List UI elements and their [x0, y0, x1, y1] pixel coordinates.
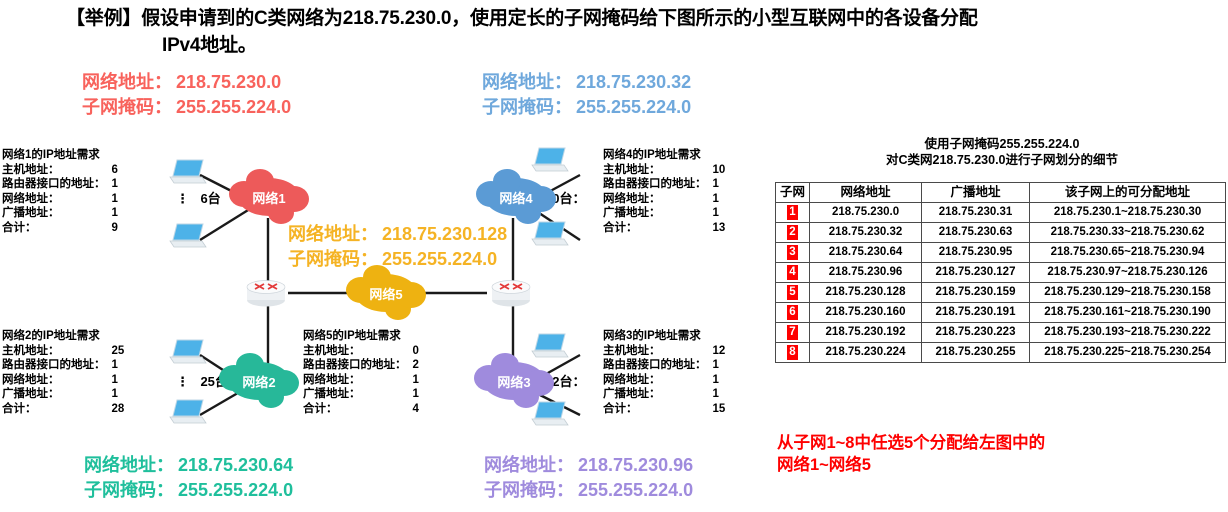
network1-subnet-mask-row: 子网掩码：255.255.224.0 [82, 95, 291, 120]
req-value: 1 [112, 373, 134, 388]
req-key: 合计： [2, 221, 112, 236]
req-key: 合计： [603, 221, 713, 236]
subnet-number-badge: 1 [787, 205, 798, 220]
laptop-icon [168, 398, 206, 424]
cell-broadcast-address: 218.75.230.159 [922, 283, 1030, 303]
subnet-table-caption-line2: 对C类网218.75.230.0进行子网划分的细节 [778, 152, 1226, 168]
cell-usable-range: 218.75.230.97~218.75.230.126 [1030, 263, 1226, 283]
column-header-subnet: 子网 [776, 183, 810, 203]
cell-broadcast-address: 218.75.230.127 [922, 263, 1030, 283]
cell-broadcast-address: 218.75.230.223 [922, 323, 1030, 343]
req-value: 1 [713, 192, 735, 207]
req-value: 28 [112, 402, 134, 417]
req-key: 主机地址： [2, 344, 112, 359]
req-key: 网络地址： [603, 192, 713, 207]
network4-network-address-value: 218.75.230.32 [576, 72, 691, 92]
req-value: 4 [413, 402, 435, 417]
req-key: 主机地址： [303, 344, 413, 359]
table-row: 8 218.75.230.224 218.75.230.255 218.75.2… [776, 343, 1226, 363]
subnet-number-badge: 5 [787, 285, 798, 300]
table-row: 网络地址：1 [2, 192, 134, 207]
req-key: 网络地址： [603, 373, 713, 388]
req-value: 2 [413, 358, 435, 373]
requirements-network3-table: 主机地址：12 路由器接口的地址：1 网络地址：1 广播地址：1 合计：15 [603, 344, 735, 417]
cell-network-address: 218.75.230.128 [810, 283, 922, 303]
req-key: 合计： [2, 402, 112, 417]
host-count-network1-group: ⋮ 6台 [176, 188, 221, 208]
req-key: 路由器接口的地址： [303, 358, 413, 373]
table-row: 路由器接口的地址：1 [2, 177, 134, 192]
req-value: 1 [713, 358, 735, 373]
cell-broadcast-address: 218.75.230.191 [922, 303, 1030, 323]
table-row: 广播地址：1 [603, 206, 735, 221]
table-row: 4 218.75.230.96 218.75.230.127 218.75.23… [776, 263, 1226, 283]
req-value: 1 [713, 387, 735, 402]
cloud-network4: 网络4 [485, 178, 547, 216]
router-icon [489, 278, 531, 306]
network-address-label: 网络地址： [482, 72, 572, 92]
table-row: 路由器接口的地址：1 [603, 177, 735, 192]
req-value: 1 [112, 177, 134, 192]
cell-network-address: 218.75.230.64 [810, 243, 922, 263]
table-header-row: 子网 网络地址 广播地址 该子网上的可分配地址 [776, 183, 1226, 203]
page-title: 【举例】假设申请到的C类网络为218.75.230.0，使用定长的子网掩码给下图… [66, 5, 1216, 59]
cloud-network3-label: 网络3 [497, 372, 530, 391]
cloud-network3: 网络3 [483, 362, 545, 400]
req-key: 主机地址： [603, 163, 713, 178]
req-value: 9 [112, 221, 134, 236]
requirements-network3: 网络3的IP地址需求 主机地址：12 路由器接口的地址：1 网络地址：1 广播地… [603, 329, 735, 417]
cell-network-address: 218.75.230.32 [810, 223, 922, 243]
title-line-2: IPv4地址。 [66, 32, 1216, 59]
req-value: 12 [713, 344, 735, 359]
address-block-network4: 网络地址：218.75.230.32 子网掩码：255.255.224.0 [482, 70, 691, 120]
req-key: 合计： [603, 402, 713, 417]
table-row: 广播地址：1 [303, 387, 435, 402]
column-header-network-address: 网络地址 [810, 183, 922, 203]
network3-subnet-mask-value: 255.255.224.0 [578, 480, 693, 500]
table-row: 路由器接口的地址：1 [2, 358, 134, 373]
table-row: 2 218.75.230.32 218.75.230.63 218.75.230… [776, 223, 1226, 243]
table-row: 网络地址：1 [603, 373, 735, 388]
network1-subnet-mask-value: 255.255.224.0 [176, 97, 291, 117]
requirements-network5-table: 主机地址：0 路由器接口的地址：2 网络地址：1 广播地址：1 合计：4 [303, 344, 435, 417]
subnet-number-badge: 4 [787, 265, 798, 280]
subnet-number-cell-wrapper: 2 [776, 223, 810, 243]
subnet-number-cell-wrapper: 7 [776, 323, 810, 343]
table-row: 合计：9 [2, 221, 134, 236]
subnet-mask-label: 子网掩码： [482, 97, 572, 117]
subnet-mask-label: 子网掩码： [484, 480, 574, 500]
table-row: 网络地址：1 [603, 192, 735, 207]
req-value: 1 [413, 387, 435, 402]
req-key: 网络地址： [303, 373, 413, 388]
subnet-division-table: 子网 网络地址 广播地址 该子网上的可分配地址 1 218.75.230.0 2… [775, 182, 1226, 363]
req-value: 1 [112, 387, 134, 402]
req-key: 路由器接口的地址： [603, 177, 713, 192]
cloud-network5: 网络5 [355, 274, 417, 312]
cloud-network2-label: 网络2 [242, 372, 275, 391]
subnet-number-cell-wrapper: 6 [776, 303, 810, 323]
cell-usable-range: 218.75.230.193~218.75.230.222 [1030, 323, 1226, 343]
req-value: 1 [112, 192, 134, 207]
cell-broadcast-address: 218.75.230.63 [922, 223, 1030, 243]
network1-network-address-value: 218.75.230.0 [176, 72, 281, 92]
title-line-1: 【举例】假设申请到的C类网络为218.75.230.0，使用定长的子网掩码给下图… [66, 8, 978, 29]
table-row: 广播地址：1 [2, 206, 134, 221]
laptop-icon [168, 158, 206, 184]
network2-subnet-mask-value: 255.255.224.0 [178, 480, 293, 500]
requirements-network1-header: 网络1的IP地址需求 [2, 148, 134, 163]
network4-subnet-mask-value: 255.255.224.0 [576, 97, 691, 117]
table-row: 合计：28 [2, 402, 134, 417]
req-key: 广播地址： [603, 206, 713, 221]
cloud-network1-label: 网络1 [252, 188, 285, 207]
cell-broadcast-address: 218.75.230.31 [922, 203, 1030, 223]
laptop-icon [168, 338, 206, 364]
laptop-icon [530, 332, 568, 358]
subnet-number-cell-wrapper: 4 [776, 263, 810, 283]
cell-network-address: 218.75.230.0 [810, 203, 922, 223]
router-icon [244, 278, 286, 306]
network1-network-address-row: 网络地址：218.75.230.0 [82, 70, 291, 95]
cloud-network2: 网络2 [228, 362, 290, 400]
subnet-number-badge: 2 [787, 225, 798, 240]
cell-broadcast-address: 218.75.230.255 [922, 343, 1030, 363]
requirements-network1-table: 主机地址：6 路由器接口的地址：1 网络地址：1 广播地址：1 合计：9 [2, 163, 134, 236]
cloud-network5-label: 网络5 [369, 284, 402, 303]
cell-usable-range: 218.75.230.161~218.75.230.190 [1030, 303, 1226, 323]
req-key: 路由器接口的地址： [2, 177, 112, 192]
subnet-mask-label: 子网掩码： [82, 97, 172, 117]
cell-network-address: 218.75.230.96 [810, 263, 922, 283]
req-key: 广播地址： [303, 387, 413, 402]
requirements-network3-header: 网络3的IP地址需求 [603, 329, 735, 344]
requirements-network1: 网络1的IP地址需求 主机地址：6 路由器接口的地址：1 网络地址：1 广播地址… [2, 148, 134, 236]
table-row: 主机地址：6 [2, 163, 134, 178]
subnet-number-cell-wrapper: 3 [776, 243, 810, 263]
column-header-usable-range: 该子网上的可分配地址 [1030, 183, 1226, 203]
table-row: 合计：4 [303, 402, 435, 417]
laptop-icon [168, 222, 206, 248]
allocation-note-line1: 从子网1~8中任选5个分配给左图中的 [777, 432, 1045, 454]
cloud-network4-label: 网络4 [499, 188, 532, 207]
subnet-number-badge: 7 [787, 325, 798, 340]
vertical-dots-icon: ⋮ [176, 191, 190, 206]
table-row: 主机地址：25 [2, 344, 134, 359]
req-key: 路由器接口的地址： [2, 358, 112, 373]
table-row: 路由器接口的地址：2 [303, 358, 435, 373]
network4-network-address-row: 网络地址：218.75.230.32 [482, 70, 691, 95]
laptop-icon [530, 146, 568, 172]
subnet-mask-label: 子网掩码： [84, 480, 174, 500]
column-header-broadcast-address: 广播地址 [922, 183, 1030, 203]
table-row: 6 218.75.230.160 218.75.230.191 218.75.2… [776, 303, 1226, 323]
cloud-network1: 网络1 [238, 178, 300, 216]
table-row: 主机地址：12 [603, 344, 735, 359]
table-row: 7 218.75.230.192 218.75.230.223 218.75.2… [776, 323, 1226, 343]
cell-network-address: 218.75.230.224 [810, 343, 922, 363]
cell-network-address: 218.75.230.192 [810, 323, 922, 343]
cell-broadcast-address: 218.75.230.95 [922, 243, 1030, 263]
cell-network-address: 218.75.230.160 [810, 303, 922, 323]
table-row: 合计：15 [603, 402, 735, 417]
req-value: 1 [713, 206, 735, 221]
table-row: 主机地址：0 [303, 344, 435, 359]
requirements-network5-header: 网络5的IP地址需求 [303, 329, 435, 344]
requirements-network2-header: 网络2的IP地址需求 [2, 329, 134, 344]
requirements-network2: 网络2的IP地址需求 主机地址：25 路由器接口的地址：1 网络地址：1 广播地… [2, 329, 134, 417]
req-key: 路由器接口的地址： [603, 358, 713, 373]
subnet-number-cell-wrapper: 1 [776, 203, 810, 223]
requirements-network4-table: 主机地址：10 路由器接口的地址：1 网络地址：1 广播地址：1 合计：13 [603, 163, 735, 236]
cell-usable-range: 218.75.230.33~218.75.230.62 [1030, 223, 1226, 243]
req-value: 1 [112, 358, 134, 373]
req-key: 广播地址： [2, 387, 112, 402]
table-row: 主机地址：10 [603, 163, 735, 178]
requirements-network4-header: 网络4的IP地址需求 [603, 148, 735, 163]
network-address-label: 网络地址： [82, 72, 172, 92]
network4-subnet-mask-row: 子网掩码：255.255.224.0 [482, 95, 691, 120]
subnet-table-caption: 使用子网掩码255.255.224.0 对C类网218.75.230.0进行子网… [778, 136, 1226, 168]
req-value: 15 [713, 402, 735, 417]
slide-canvas: 【举例】假设申请到的C类网络为218.75.230.0，使用定长的子网掩码给下图… [0, 0, 1228, 512]
cell-usable-range: 218.75.230.129~218.75.230.158 [1030, 283, 1226, 303]
address-block-network1: 网络地址：218.75.230.0 子网掩码：255.255.224.0 [82, 70, 291, 120]
subnet-number-cell-wrapper: 5 [776, 283, 810, 303]
table-row: 广播地址：1 [2, 387, 134, 402]
table-row: 广播地址：1 [603, 387, 735, 402]
network3-subnet-mask-row: 子网掩码：255.255.224.0 [484, 478, 693, 503]
table-row: 路由器接口的地址：1 [603, 358, 735, 373]
req-value: 1 [713, 373, 735, 388]
subnet-number-badge: 8 [787, 345, 798, 360]
cell-usable-range: 218.75.230.225~218.75.230.254 [1030, 343, 1226, 363]
req-value: 13 [713, 221, 735, 236]
table-row: 网络地址：1 [303, 373, 435, 388]
req-key: 主机地址： [2, 163, 112, 178]
vertical-dots-icon: ⋮ [176, 374, 190, 389]
table-row: 网络地址：1 [2, 373, 134, 388]
table-row: 3 218.75.230.64 218.75.230.95 218.75.230… [776, 243, 1226, 263]
subnet-table-caption-line1: 使用子网掩码255.255.224.0 [778, 136, 1226, 152]
req-value: 0 [413, 344, 435, 359]
requirements-network2-table: 主机地址：25 路由器接口的地址：1 网络地址：1 广播地址：1 合计：28 [2, 344, 134, 417]
table-row: 合计：13 [603, 221, 735, 236]
host-count-network1: 6台 [200, 191, 220, 206]
requirements-network5: 网络5的IP地址需求 主机地址：0 路由器接口的地址：2 网络地址：1 广播地址… [303, 329, 435, 417]
laptop-icon [530, 220, 568, 246]
req-key: 广播地址： [603, 387, 713, 402]
subnet-number-badge: 3 [787, 245, 798, 260]
req-key: 网络地址： [2, 373, 112, 388]
req-value: 1 [413, 373, 435, 388]
requirements-network4: 网络4的IP地址需求 主机地址：10 路由器接口的地址：1 网络地址：1 广播地… [603, 148, 735, 236]
subnet-number-badge: 6 [787, 305, 798, 320]
table-row: 1 218.75.230.0 218.75.230.31 218.75.230.… [776, 203, 1226, 223]
req-value: 1 [112, 206, 134, 221]
cell-usable-range: 218.75.230.65~218.75.230.94 [1030, 243, 1226, 263]
table-row: 5 218.75.230.128 218.75.230.159 218.75.2… [776, 283, 1226, 303]
req-key: 广播地址： [2, 206, 112, 221]
req-value: 25 [112, 344, 134, 359]
req-value: 10 [713, 163, 735, 178]
req-value: 1 [713, 177, 735, 192]
req-key: 合计： [303, 402, 413, 417]
network2-subnet-mask-row: 子网掩码：255.255.224.0 [84, 478, 293, 503]
allocation-note: 从子网1~8中任选5个分配给左图中的 网络1~网络5 [777, 432, 1045, 476]
req-value: 6 [112, 163, 134, 178]
req-key: 网络地址： [2, 192, 112, 207]
req-key: 主机地址： [603, 344, 713, 359]
cell-usable-range: 218.75.230.1~218.75.230.30 [1030, 203, 1226, 223]
allocation-note-line2: 网络1~网络5 [777, 454, 1045, 476]
subnet-number-cell-wrapper: 8 [776, 343, 810, 363]
